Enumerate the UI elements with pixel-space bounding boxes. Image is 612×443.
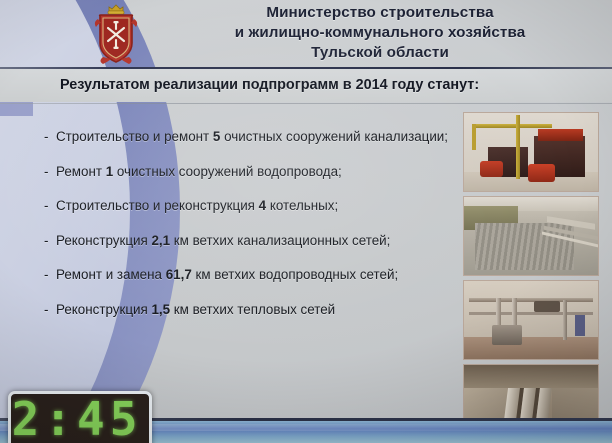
results-bullet-list: -Строительство и ремонт 5 очистных соору… <box>44 128 448 335</box>
bullet-text-pre: Реконструкция <box>56 233 151 248</box>
list-item: -Ремонт 1 очистных сооружений водопровод… <box>44 163 448 181</box>
slide-header: Министерство строительства и жилищно-ком… <box>0 0 612 67</box>
bullet-value: 4 <box>259 198 266 213</box>
bullet-value: 61,7 <box>166 267 192 282</box>
bullet-text-post: км ветхих водопроводных сетей; <box>192 267 398 282</box>
list-item: -Реконструкция 1,5 км ветхих тепловых се… <box>44 301 448 319</box>
timer-display: 2:45 <box>11 394 143 443</box>
bullet-dash: - <box>44 301 56 319</box>
bullet-text-post: км ветхих тепловых сетей <box>170 302 335 317</box>
ministry-title: Министерство строительства и жилищно-ком… <box>160 3 600 63</box>
countdown-timer: 2:45 <box>8 391 152 443</box>
bullet-text-pre: Реконструкция <box>56 302 151 317</box>
ministry-title-line-1: Министерство строительства <box>160 3 600 23</box>
bullet-text-post: очистных сооружений водопровода; <box>113 164 342 179</box>
bullet-text-pre: Строительство и реконструкция <box>56 198 259 213</box>
boiler-room-photo <box>463 112 599 192</box>
ministry-title-line-3: Тульской области <box>160 43 600 63</box>
subtitle-text: Результатом реализации подпрограмм в 201… <box>60 77 580 93</box>
bullet-dash: - <box>44 197 56 215</box>
bullet-text-post: очистных сооружений канализации; <box>220 129 448 144</box>
bullet-dash: - <box>44 163 56 181</box>
bullet-text-pre: Ремонт <box>56 164 106 179</box>
coat-of-arms-icon <box>89 3 143 67</box>
wastewater-aeration-basin-photo <box>463 196 599 276</box>
bullet-value: 1,5 <box>151 302 170 317</box>
presentation-slide: Министерство строительства и жилищно-ком… <box>0 0 612 443</box>
bullet-text-pre: Ремонт и замена <box>56 267 166 282</box>
list-item: -Реконструкция 2,1 км ветхих канализацио… <box>44 232 448 250</box>
subtitle-divider <box>0 103 612 104</box>
list-item: -Строительство и ремонт 5 очистных соору… <box>44 128 448 146</box>
bullet-dash: - <box>44 128 56 146</box>
bullet-text-post: км ветхих канализационных сетей; <box>170 233 390 248</box>
ministry-title-line-2: и жилищно-коммунального хозяйства <box>160 23 600 43</box>
bullet-text-post: котельных; <box>266 198 338 213</box>
bullet-value: 2,1 <box>151 233 170 248</box>
photo-column <box>463 112 597 443</box>
bullet-dash: - <box>44 266 56 284</box>
bullet-text-pre: Строительство и ремонт <box>56 129 213 144</box>
pump-station-interior-photo <box>463 280 599 360</box>
bullet-dash: - <box>44 232 56 250</box>
list-item: -Строительство и реконструкция 4 котельн… <box>44 197 448 215</box>
list-item: -Ремонт и замена 61,7 км ветхих водопров… <box>44 266 448 284</box>
